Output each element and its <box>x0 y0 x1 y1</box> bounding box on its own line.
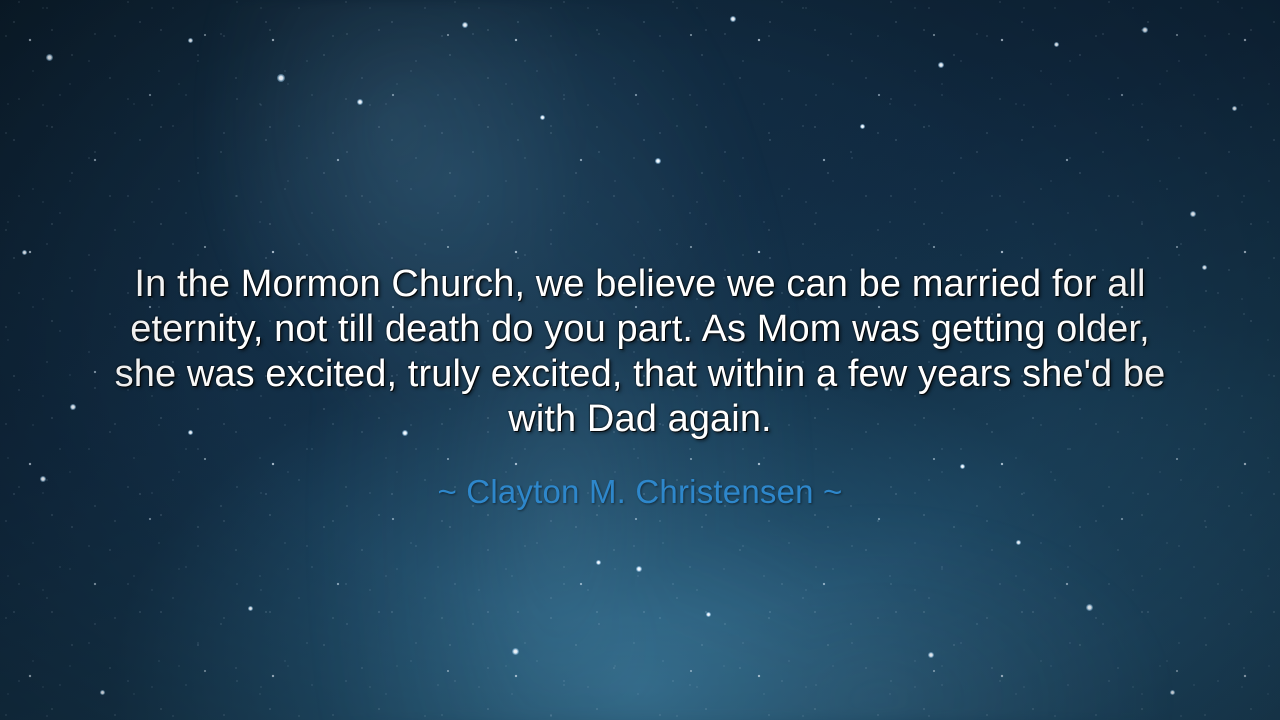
quote-block: In the Mormon Church, we believe we can … <box>110 262 1170 512</box>
quote-text: In the Mormon Church, we believe we can … <box>110 262 1170 442</box>
quote-card: In the Mormon Church, we believe we can … <box>0 0 1280 720</box>
quote-author: ~ Clayton M. Christensen ~ <box>110 442 1170 512</box>
